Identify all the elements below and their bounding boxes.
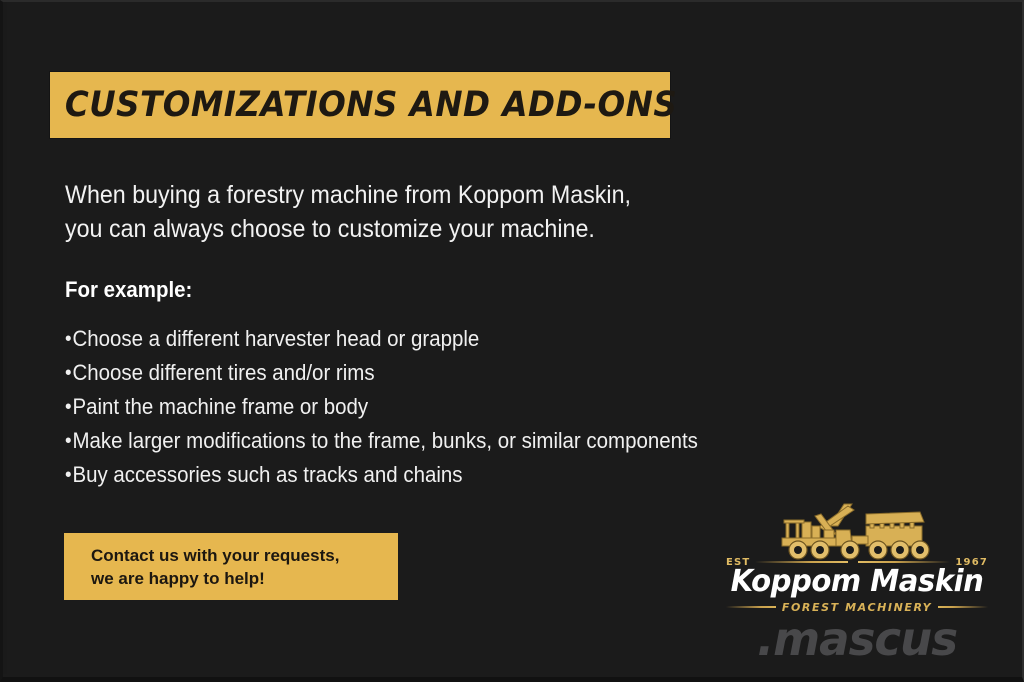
list-item-label: Buy accessories such as tracks and chain… — [72, 460, 462, 490]
bullet-icon: • — [65, 397, 72, 417]
title-banner: CUSTOMIZATIONS AND ADD-ONS — [50, 72, 670, 138]
bullet-icon: • — [65, 363, 72, 383]
list-item: • Choose different tires and/or rims — [65, 356, 772, 390]
list-item: • Choose a different harvester head or g… — [65, 322, 772, 356]
tagline-rule-left — [726, 606, 776, 608]
contact-line-2: we are happy to help! — [91, 567, 398, 590]
page-title: CUSTOMIZATIONS AND ADD-ONS — [50, 85, 677, 125]
bullet-icon: • — [65, 329, 72, 349]
koppom-maskin-logo: EST 1967 Koppom Maskin FOREST MACHINERY — [726, 500, 988, 612]
customization-options-list: • Choose a different harvester head or g… — [65, 322, 772, 492]
list-item: • Make larger modifications to the frame… — [65, 424, 772, 458]
logo-rule-left — [755, 561, 847, 563]
list-item: • Paint the machine frame or body — [65, 390, 772, 424]
intro-line-2: you can always choose to customize your … — [65, 212, 716, 246]
for-example-heading: For example: — [65, 277, 192, 303]
list-item-label: Choose different tires and/or rims — [72, 358, 374, 388]
tagline-rule-right — [938, 606, 988, 608]
mascus-watermark: .mascus — [757, 612, 957, 666]
contact-line-1: Contact us with your requests, — [91, 544, 398, 567]
contact-cta-box[interactable]: Contact us with your requests, we are ha… — [64, 533, 398, 600]
intro-line-1: When buying a forestry machine from Kopp… — [65, 178, 716, 212]
list-item-label: Paint the machine frame or body — [72, 392, 368, 422]
logo-rule-right — [858, 561, 950, 563]
forwarder-machine-icon — [774, 500, 944, 562]
list-item: • Buy accessories such as tracks and cha… — [65, 458, 772, 492]
advertisement-slide: CUSTOMIZATIONS AND ADD-ONS When buying a… — [0, 0, 1024, 682]
intro-paragraph: When buying a forestry machine from Kopp… — [65, 178, 716, 246]
bullet-icon: • — [65, 465, 72, 485]
bullet-icon: • — [65, 431, 72, 451]
brand-wordmark: Koppom Maskin — [730, 564, 984, 599]
list-item-label: Make larger modifications to the frame, … — [72, 426, 697, 456]
list-item-label: Choose a different harvester head or gra… — [72, 324, 479, 354]
